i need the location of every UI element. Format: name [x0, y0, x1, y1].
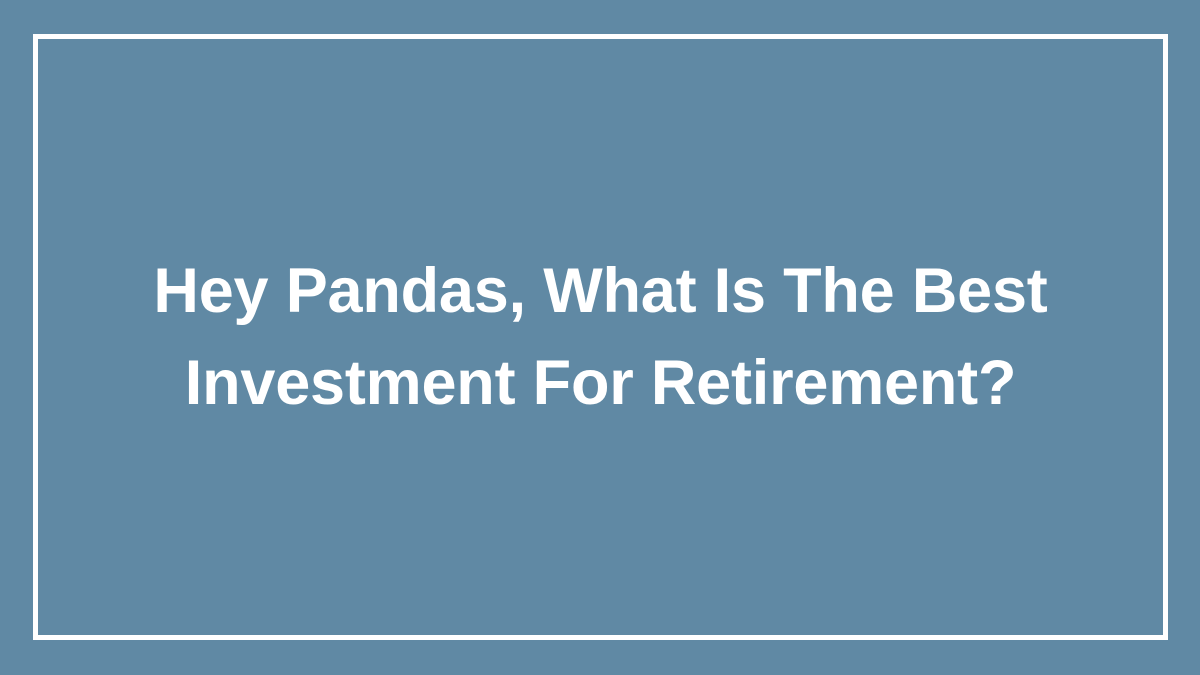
title-card: Hey Pandas, What Is The Best Investment …	[0, 0, 1200, 675]
page-title-line-2: Investment For Retirement?	[185, 337, 1016, 429]
page-title: Hey Pandas, What Is The Best Investment …	[33, 34, 1168, 640]
page-title-line-1: Hey Pandas, What Is The Best	[153, 245, 1047, 337]
